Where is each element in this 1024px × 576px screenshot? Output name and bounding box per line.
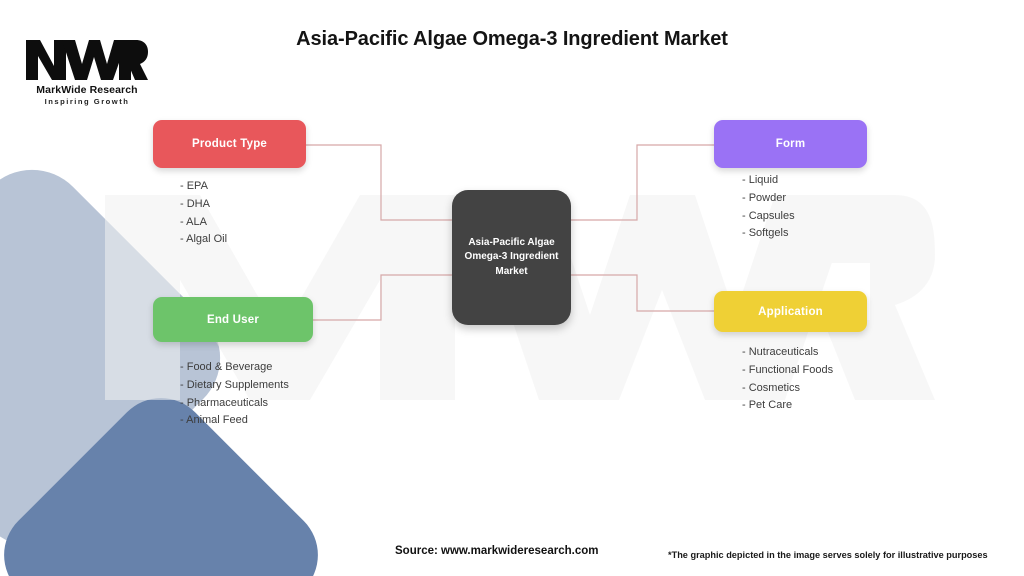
list-item: - Dietary Supplements (180, 377, 289, 395)
list-item: - Nutraceuticals (742, 344, 833, 362)
center-node-line-3: Market (495, 266, 527, 277)
branch-list-end-user: - Food & Beverage - Dietary Supplements … (180, 359, 289, 430)
connector-form (571, 145, 714, 220)
branch-label-application: Application (758, 306, 823, 318)
branch-list-product-type: - EPA - DHA - ALA - Algal Oil (180, 178, 227, 249)
source-label: Source: www.markwideresearch.com (395, 545, 598, 557)
branch-label-product-type: Product Type (192, 138, 267, 150)
list-item: - Powder (742, 190, 795, 208)
list-item: - Softgels (742, 225, 795, 243)
list-item: - Animal Feed (180, 412, 289, 430)
list-item: - ALA (180, 214, 227, 232)
connector-end-user (313, 275, 452, 320)
list-item: - EPA (180, 178, 227, 196)
disclaimer-label: *The graphic depicted in the image serve… (668, 550, 988, 560)
branch-node-form[interactable]: Form (714, 120, 867, 168)
list-item: - Capsules (742, 208, 795, 226)
list-item: - Pharmaceuticals (180, 395, 289, 413)
center-node-line-2: Omega-3 Ingredient (465, 251, 559, 262)
connector-application (571, 275, 714, 311)
branch-label-end-user: End User (207, 314, 259, 326)
branch-list-form: - Liquid - Powder - Capsules - Softgels (742, 172, 795, 243)
center-node-label: Asia-Pacific Algae Omega-3 Ingredient Ma… (456, 236, 568, 279)
branch-node-application[interactable]: Application (714, 291, 867, 332)
center-node-line-1: Asia-Pacific Algae (468, 237, 554, 248)
branch-node-product-type[interactable]: Product Type (153, 120, 306, 168)
list-item: - DHA (180, 196, 227, 214)
list-item: - Food & Beverage (180, 359, 289, 377)
connector-product-type (305, 145, 452, 220)
infographic-canvas: MarkWide Research Inspiring Growth Asia-… (0, 0, 1024, 576)
branch-list-application: - Nutraceuticals - Functional Foods - Co… (742, 344, 833, 415)
list-item: - Cosmetics (742, 380, 833, 398)
list-item: - Algal Oil (180, 231, 227, 249)
branch-label-form: Form (776, 138, 806, 150)
branch-node-end-user[interactable]: End User (153, 297, 313, 342)
center-node: Asia-Pacific Algae Omega-3 Ingredient Ma… (452, 190, 571, 325)
list-item: - Pet Care (742, 397, 833, 415)
list-item: - Functional Foods (742, 362, 833, 380)
list-item: - Liquid (742, 172, 795, 190)
